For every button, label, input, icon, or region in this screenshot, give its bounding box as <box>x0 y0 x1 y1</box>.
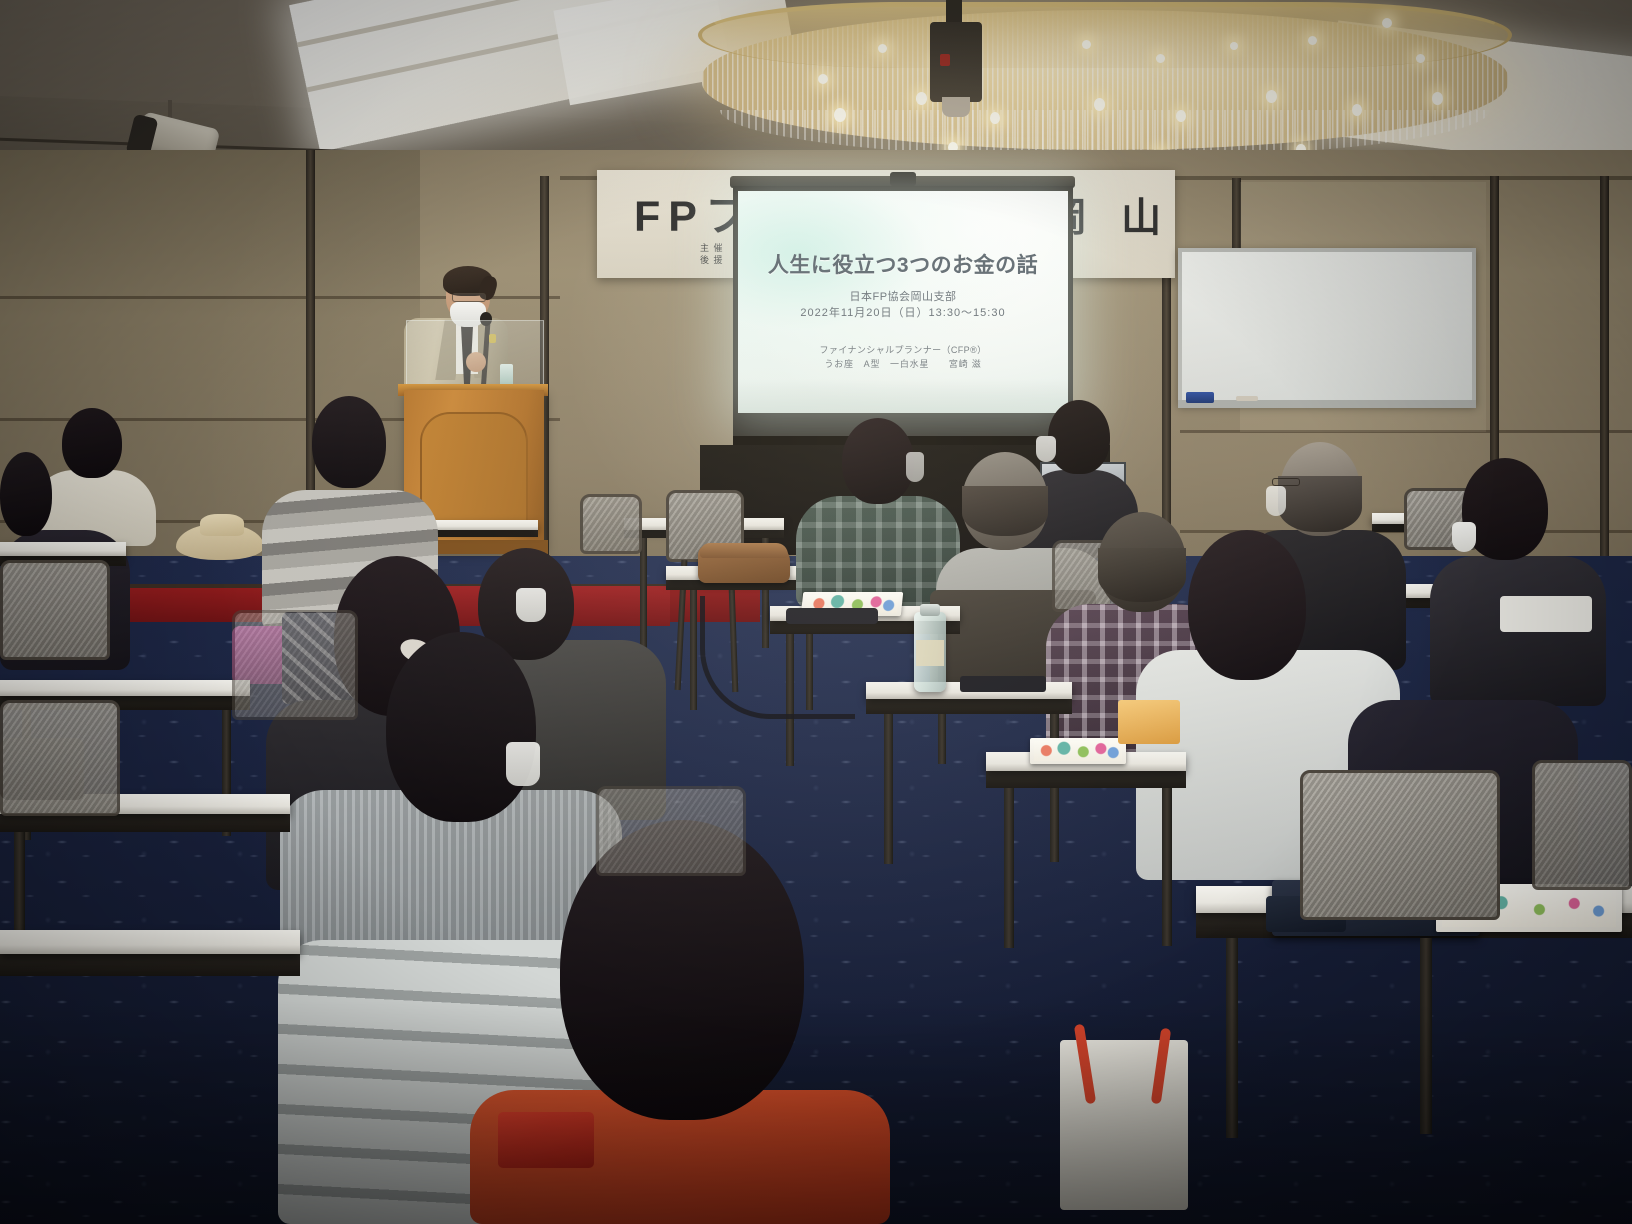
table-leg <box>884 714 893 864</box>
chair[interactable] <box>0 560 110 660</box>
chair[interactable] <box>596 786 746 876</box>
slide-presenter-role: ファイナンシャルプランナー（CFP®） <box>738 343 1068 356</box>
red-pouch[interactable] <box>498 1112 594 1168</box>
collar <box>1500 596 1592 632</box>
slide-organizer: 日本FP協会岡山支部 <box>738 288 1068 304</box>
banner-subtext: 主 催 後 援 <box>700 242 724 266</box>
chandelier-gold-rim <box>698 2 1512 68</box>
person-hair <box>962 486 1048 536</box>
chair[interactable] <box>232 610 358 720</box>
ceiling-projector <box>930 22 982 102</box>
tablet-or-case[interactable] <box>960 676 1046 692</box>
chair[interactable] <box>580 494 642 554</box>
banner-subtext-line1: 主 催 <box>700 242 724 254</box>
table-leg <box>1162 788 1172 946</box>
table-row <box>0 680 250 696</box>
face-mask <box>516 588 546 622</box>
projector-lens <box>942 97 970 117</box>
podium-acrylic-shield <box>406 320 544 394</box>
seminar-hall-photo: FPフ 岡 山 主 催 後 援 人生に役立つ3つのお金の話 日本FP協会岡山支部… <box>0 0 1632 1224</box>
orange-leaflet[interactable] <box>1118 700 1180 744</box>
straw-hat-crown <box>200 514 244 536</box>
person-head <box>62 408 122 478</box>
slide-datetime: 2022年11月20日（日）13:30〜15:30 <box>738 304 1068 320</box>
chair[interactable] <box>1300 770 1500 920</box>
table-edge <box>986 770 1186 788</box>
face-mask <box>506 742 540 786</box>
person-head <box>312 396 386 488</box>
slide-presenter-name: うお座 A型 一白水星 宮崎 滋 <box>738 357 1068 370</box>
glasses-icon <box>1272 478 1300 486</box>
whiteboard[interactable] <box>1178 248 1476 406</box>
table-leg <box>1004 788 1014 948</box>
person-head <box>842 418 914 504</box>
table-leg <box>1050 714 1059 862</box>
face-mask <box>906 452 924 482</box>
person-hair <box>1098 548 1186 602</box>
table-row <box>0 930 300 954</box>
podium-front-panel <box>420 412 528 532</box>
leather-bag-flap <box>700 543 788 558</box>
face-mask <box>1036 436 1056 462</box>
table-edge <box>0 952 300 976</box>
chair[interactable] <box>1532 760 1632 890</box>
whiteboard-marker[interactable] <box>1236 396 1258 401</box>
projector-indicator-led <box>940 54 950 66</box>
whiteboard-eraser[interactable] <box>1186 392 1214 403</box>
slide-bottom-shading <box>738 379 1068 413</box>
person-head <box>386 632 536 822</box>
table-row <box>0 542 126 556</box>
person-head <box>1188 530 1306 680</box>
table-leg <box>640 538 647 648</box>
water-bottle-label <box>916 640 944 666</box>
person-head <box>1048 400 1110 474</box>
water-bottle-cap <box>920 604 940 616</box>
table-leg <box>1226 938 1238 1138</box>
chandelier <box>690 0 1520 167</box>
whiteboard-tray <box>1178 400 1476 408</box>
speaker-glasses-icon <box>452 293 486 302</box>
chair[interactable] <box>0 700 120 816</box>
face-mask <box>1452 522 1476 552</box>
face-mask <box>1266 486 1286 516</box>
banner-subtext-line2: 後 援 <box>700 254 724 266</box>
table-leg <box>690 590 697 710</box>
brochure[interactable] <box>1030 738 1126 764</box>
floor-cable <box>700 596 855 719</box>
table-leg <box>1420 938 1432 1134</box>
projection-screen-pull-knob[interactable] <box>890 172 916 186</box>
wall-mullion <box>1600 176 1609 596</box>
projection-screen: 人生に役立つ3つのお金の話 日本FP協会岡山支部 2022年11月20日（日）1… <box>738 191 1068 413</box>
person-head <box>0 452 52 536</box>
table-edge <box>866 698 1072 714</box>
slide-title: 人生に役立つ3つのお金の話 <box>738 249 1068 279</box>
